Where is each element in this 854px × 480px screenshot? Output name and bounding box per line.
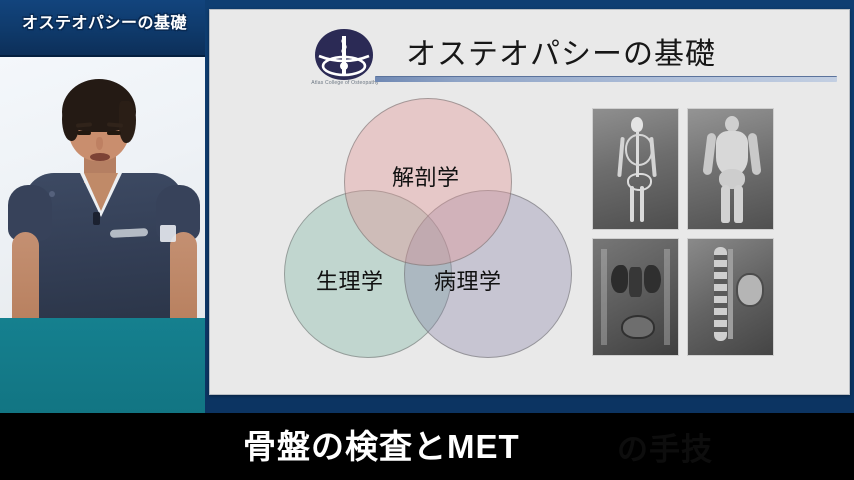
left-column: オステオパシーの基礎	[0, 0, 213, 413]
presenter-hair-left	[62, 101, 79, 141]
presenter-mouth	[90, 153, 110, 161]
musculature-posterior-image	[687, 108, 774, 230]
presenter-arm-left	[12, 232, 39, 318]
muscle-leg-right	[734, 185, 743, 223]
presenter-sleeve-badge	[160, 225, 176, 242]
kidney-right	[644, 265, 661, 293]
vertebra-segment	[714, 255, 727, 260]
presenter-eye-left	[77, 131, 91, 135]
scan-band-right	[664, 249, 670, 345]
leg-right-bone	[640, 186, 644, 222]
bladder-shape	[621, 315, 655, 339]
muscle-leg-left	[721, 185, 730, 223]
venn-label-pathology: 病理学	[434, 264, 502, 296]
video-player-stage: オステオパシーの基礎	[0, 0, 854, 480]
arm-left-bone	[617, 137, 624, 177]
presenter-video-feed	[0, 57, 208, 318]
presenter-hair-right	[119, 101, 136, 143]
caption-bar: の手技 骨盤の検査とMET	[0, 413, 854, 480]
aorta-shape	[629, 267, 642, 297]
muscle-arm-left	[702, 133, 716, 176]
teal-accent-panel	[0, 318, 208, 413]
muscle-arm-right	[747, 133, 761, 176]
vertebra-segment	[714, 279, 727, 284]
vertebra-segment	[714, 303, 727, 308]
presenter-lapel-mic	[93, 212, 100, 225]
anatomy-image-grid	[592, 108, 774, 360]
muscle-head	[725, 116, 739, 132]
kidney-urinary-scan-image	[592, 238, 679, 356]
presenter-nose	[96, 137, 103, 150]
venn-label-physiology: 生理学	[316, 264, 384, 296]
vertebra-segment	[714, 315, 727, 320]
venn-label-anatomy: 解剖学	[392, 160, 460, 192]
slide-panel: Atlas College of Osteopathy オステオパシーの基礎 解…	[209, 9, 850, 395]
course-title-bar: オステオパシーの基礎	[0, 0, 213, 57]
kidney-left	[611, 265, 628, 293]
spine-sagittal-scan-image	[687, 238, 774, 356]
scan-band-left	[601, 249, 607, 345]
caption-trailing-text: の手技	[617, 424, 713, 469]
spinal-cord	[728, 249, 733, 339]
skeleton-posterior-image	[592, 108, 679, 230]
leg-left-bone	[630, 186, 634, 222]
slide-title: オステオパシーの基礎	[406, 29, 716, 73]
caption-main-text: 骨盤の検査とMET	[243, 420, 520, 468]
arm-right-bone	[649, 137, 656, 177]
abdominal-organ	[736, 273, 764, 307]
vertebra-segment	[714, 327, 727, 332]
presenter-arm-right	[170, 232, 197, 318]
title-divider-rule	[375, 76, 837, 82]
atlas-college-logo	[305, 26, 383, 84]
vertebra-segment	[714, 291, 727, 296]
presenter-shoulder-detail	[49, 191, 55, 197]
course-title-label: オステオパシーの基礎	[22, 9, 187, 33]
skull-shape	[631, 117, 643, 132]
vertebra-segment	[714, 267, 727, 272]
venn-diagram: 解剖学 生理学 病理学	[284, 98, 572, 360]
presenter-eye-right	[107, 131, 121, 135]
